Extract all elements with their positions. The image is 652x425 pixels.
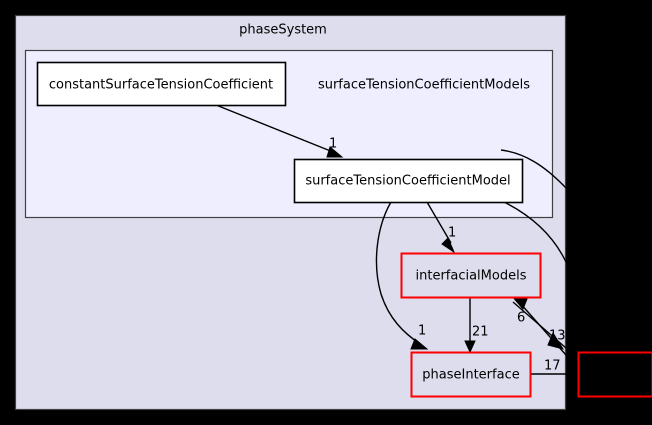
edge-label-constant-to-model: 1 — [329, 137, 337, 152]
edge-label-model-to-interfacial: 1 — [448, 226, 456, 241]
node-offscreen-clipped[interactable] — [579, 353, 652, 397]
node-box-offscreen-clipped[interactable] — [579, 353, 652, 397]
node-label-interfacialModels: interfacialModels — [416, 269, 527, 284]
node-label-phaseInterface: phaseInterface — [422, 368, 519, 383]
cluster-label-phaseSystem: phaseSystem — [239, 23, 327, 38]
dependency-graph-svg: phaseSystem surfaceTensionCoefficientMod… — [0, 0, 652, 425]
node-constantSurfaceTensionCoefficient[interactable]: constantSurfaceTensionCoefficient — [38, 63, 286, 106]
cluster-label-surfaceTensionCoefficientModels: surfaceTensionCoefficientModels — [318, 78, 530, 93]
node-interfacialModels[interactable]: interfacialModels — [402, 254, 541, 298]
node-label-constantSurfaceTensionCoefficient: constantSurfaceTensionCoefficient — [49, 78, 273, 93]
node-label-surfaceTensionCoefficientModel: surfaceTensionCoefficientModel — [305, 174, 510, 189]
graph-canvas: phaseSystem surfaceTensionCoefficientMod… — [0, 0, 652, 425]
edge-label-model-to-phaseinterface: 1 — [418, 324, 426, 339]
edge-label-phaseinterface-to-offscreen: 17 — [544, 359, 561, 374]
node-surfaceTensionCoefficientModel[interactable]: surfaceTensionCoefficientModel — [295, 160, 523, 203]
edge-label-interfacial-to-phaseinterface: 21 — [472, 325, 489, 340]
node-phaseInterface[interactable]: phaseInterface — [412, 353, 531, 397]
edge-label-offscreen-to-interfacial: 6 — [517, 311, 525, 326]
edge-label-offscreen-13: 13 — [549, 329, 566, 344]
arrowhead-icon — [567, 369, 578, 379]
